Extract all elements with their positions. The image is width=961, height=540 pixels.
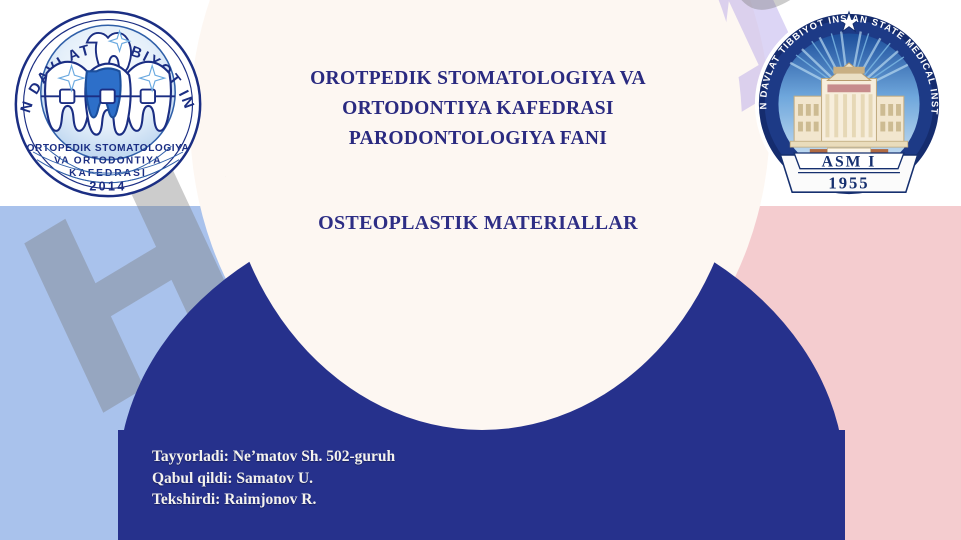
title-line-3: PARODONTOLOGIYA FANI [248, 124, 708, 154]
logo-right-abbrev: ASM I [822, 154, 877, 171]
logo-right-year: 1955 [828, 173, 869, 192]
logo-asmi: ANDIJON DAVLAT TIBBIYOT INSTITUTI ANDIJA… [751, 6, 947, 202]
credit-line-prepared-by: Tayyorladi: Ne’matov Sh. 502-guruh [152, 446, 395, 468]
title-line-2: ORTODONTIYA KAFEDRASI [248, 94, 708, 124]
logo-ortopedik-stomatologiya-kafedrasi: ANDIJON DAVLAT TIBBIYOT INSTITUTI [12, 8, 204, 200]
slide-subtitle: OSTEOPLASTIK MATERIALLAR [248, 212, 708, 235]
slide-credits: Tayyorladi: Ne’matov Sh. 502-guruh Qabul… [152, 446, 395, 511]
credit-line-accepted-by: Qabul qildi: Samatov U. [152, 468, 395, 490]
title-line-1: OROTPEDIK STOMATOLOGIYA VA [248, 64, 708, 94]
presentation-title-slide: 24 Hujjat ANDIJON DAVLAT TIBBIYOT INSTIT… [0, 0, 961, 540]
logo-left-line1: ORTOPEDIK STOMATOLOGIYA [27, 143, 190, 154]
credit-line-checked-by: Tekshirdi: Raimjonov R. [152, 489, 395, 511]
logo-left-year: 2014 [89, 179, 126, 193]
slide-title: OROTPEDIK STOMATOLOGIYA VA ORTODONTIYA K… [248, 64, 708, 154]
